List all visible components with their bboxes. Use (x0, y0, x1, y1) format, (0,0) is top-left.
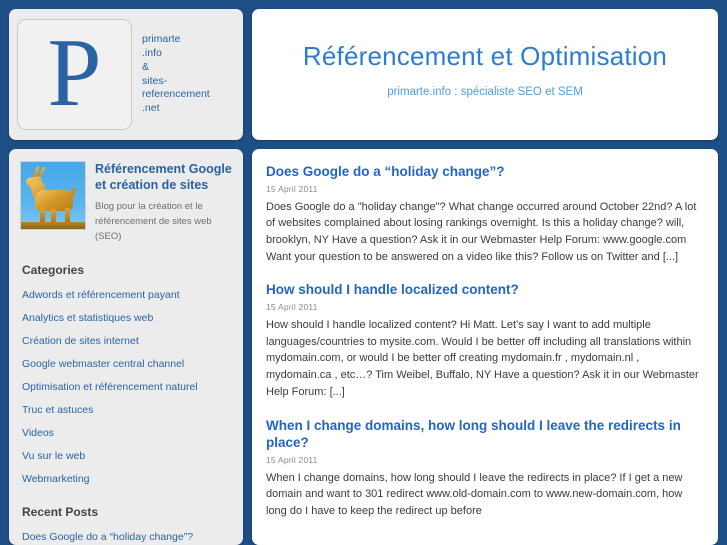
about-title[interactable]: Référencement Google et création de site… (95, 161, 232, 193)
goat-tail-icon (70, 188, 76, 199)
post-date: 15 April 2011 (266, 455, 700, 465)
main-content: Does Google do a “holiday change”? 15 Ap… (252, 149, 718, 545)
post-entry: How should I handle localized content? 1… (266, 281, 700, 400)
sidebar-category-creation-sites[interactable]: Création de sites internet (22, 335, 139, 347)
brand-text: primarte .info & sites- referencement .n… (142, 33, 210, 116)
post-entry: When I change domains, how long should I… (266, 417, 700, 520)
post-title-change-domains[interactable]: When I change domains, how long should I… (266, 417, 700, 452)
list-item: Videos (22, 423, 232, 441)
post-date: 15 April 2011 (266, 184, 700, 194)
about-text: Référencement Google et création de site… (95, 161, 232, 245)
brand-line-2: .info (142, 47, 210, 61)
recent-post-holiday-change[interactable]: Does Google do a “holiday change”? (22, 531, 193, 543)
sidebar-category-analytics[interactable]: Analytics et statistiques web (22, 312, 153, 324)
sidebar-category-adwords[interactable]: Adwords et référencement payant (22, 289, 180, 301)
sidebar-category-optimisation[interactable]: Optimisation et référencement naturel (22, 381, 198, 393)
brand-line-3: & (142, 61, 210, 75)
post-excerpt: When I change domains, how long should I… (266, 470, 700, 520)
categories-list: Adwords et référencement payant Analytic… (20, 285, 232, 487)
sidebar-category-videos[interactable]: Videos (22, 427, 54, 439)
list-item: Création de sites internet (22, 331, 232, 349)
list-item: Does Google do a “holiday change”? (22, 527, 232, 545)
site-tagline: primarte.info : spécialiste SEO et SEM (387, 86, 583, 98)
brand-line-1: primarte (142, 33, 210, 47)
goat-base-icon (21, 222, 85, 229)
site-logo[interactable]: P (17, 19, 132, 130)
list-item: Google webmaster central channel (22, 354, 232, 372)
list-item: Webmarketing (22, 469, 232, 487)
brand-panel: P primarte .info & sites- referencement … (9, 9, 243, 140)
list-item: Vu sur le web (22, 446, 232, 464)
main-row: Référencement Google et création de site… (9, 149, 718, 545)
about-description: Blog pour la création et le référencemen… (95, 199, 232, 245)
recent-posts-list: Does Google do a “holiday change”? How s… (20, 527, 232, 545)
list-item: Truc et astuces (22, 400, 232, 418)
logo-letter: P (48, 33, 102, 113)
post-title-localized-content[interactable]: How should I handle localized content? (266, 281, 700, 299)
list-item: Optimisation et référencement naturel (22, 377, 232, 395)
post-excerpt: How should I handle localized content? H… (266, 317, 700, 401)
post-entry: Does Google do a “holiday change”? 15 Ap… (266, 163, 700, 265)
post-date: 15 April 2011 (266, 302, 700, 312)
goat-sculpture-image (20, 161, 86, 230)
sidebar-category-vu-sur-le-web[interactable]: Vu sur le web (22, 450, 85, 462)
recent-posts-heading: Recent Posts (22, 505, 232, 519)
page-root: P primarte .info & sites- referencement … (0, 0, 727, 545)
brand-line-5: referencement (142, 88, 210, 102)
site-title[interactable]: Référencement et Optimisation (303, 41, 667, 72)
brand-line-6: .net (142, 102, 210, 116)
top-row: P primarte .info & sites- referencement … (9, 9, 718, 140)
brand-line-4: sites- (142, 75, 210, 89)
categories-heading: Categories (22, 263, 232, 277)
about-widget: Référencement Google et création de site… (20, 161, 232, 245)
sidebar-category-webmarketing[interactable]: Webmarketing (22, 473, 90, 485)
list-item: Adwords et référencement payant (22, 285, 232, 303)
sidebar: Référencement Google et création de site… (9, 149, 243, 545)
site-header-panel: Référencement et Optimisation primarte.i… (252, 9, 718, 140)
post-title-holiday-change[interactable]: Does Google do a “holiday change”? (266, 163, 700, 181)
sidebar-category-google-webmaster[interactable]: Google webmaster central channel (22, 358, 184, 370)
list-item: Analytics et statistiques web (22, 308, 232, 326)
post-excerpt: Does Google do a "holiday change"? What … (266, 199, 700, 266)
sidebar-category-truc-astuces[interactable]: Truc et astuces (22, 404, 93, 416)
